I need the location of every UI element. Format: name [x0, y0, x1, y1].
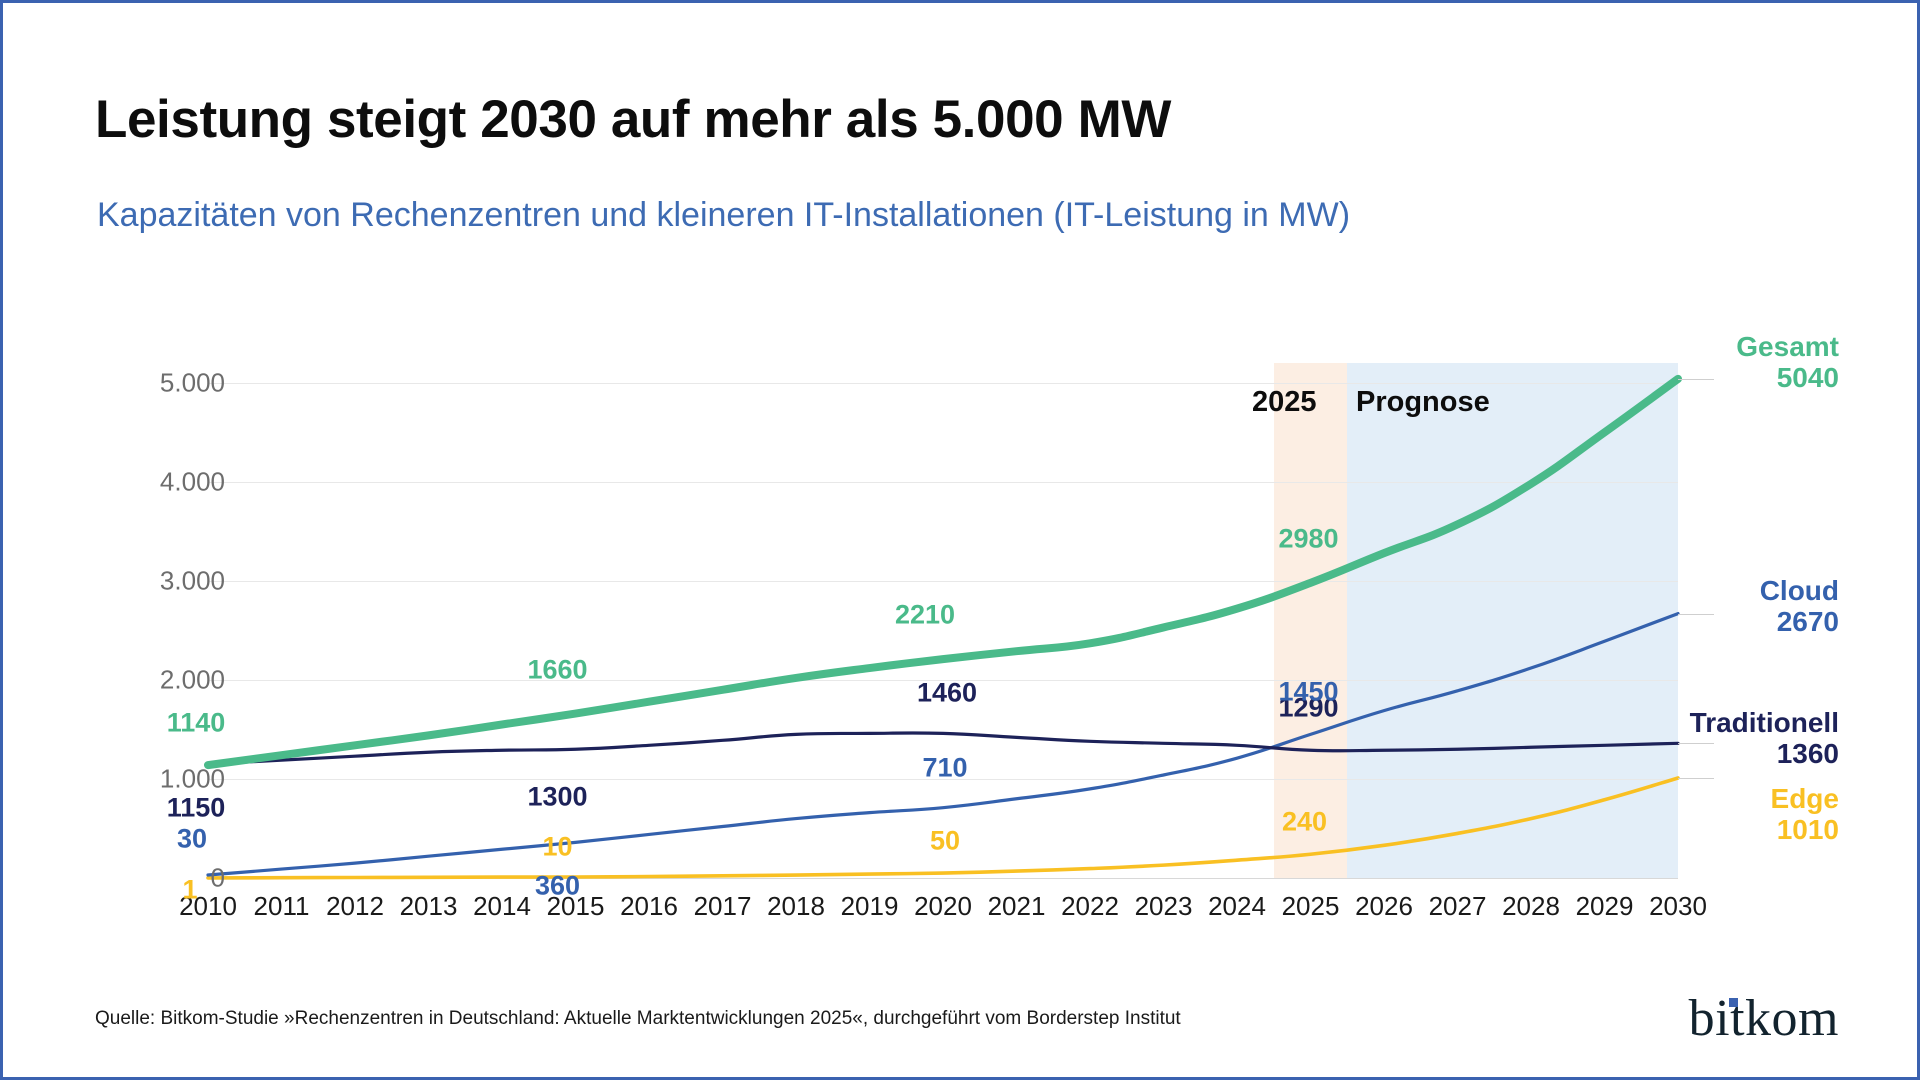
x-axis-tick: 2020 — [914, 891, 972, 922]
legend-item-name: Cloud — [1760, 575, 1839, 606]
point-label: 1140 — [167, 708, 226, 739]
y-axis-tick: 3.000 — [85, 565, 225, 596]
y-axis-tick: 2.000 — [85, 664, 225, 695]
x-axis-tick: 2025 — [1282, 891, 1340, 922]
y-axis-tick: 0 — [85, 863, 225, 894]
legend-item-edge[interactable]: Edge1010 — [1771, 783, 1839, 846]
x-axis-tick: 2026 — [1355, 891, 1413, 922]
band-label-prognose: Prognose — [1356, 386, 1490, 419]
x-axis-tick: 2030 — [1649, 891, 1707, 922]
point-label: 30 — [177, 824, 207, 855]
legend-item-name: Gesamt — [1736, 331, 1839, 362]
logo-text: bitkom — [1689, 990, 1839, 1047]
point-label: 1150 — [167, 793, 226, 824]
point-label: 1660 — [527, 654, 587, 685]
source-note: Quelle: Bitkom-Studie »Rechenzentren in … — [95, 1008, 1181, 1030]
x-axis-tick: 2017 — [694, 891, 752, 922]
x-axis-tick: 2028 — [1502, 891, 1560, 922]
legend-item-value: 5040 — [1736, 362, 1839, 393]
y-axis-tick: 5.000 — [85, 367, 225, 398]
band-label-2025: 2025 — [1252, 386, 1317, 419]
x-axis-tick: 2018 — [767, 891, 825, 922]
x-axis-tick: 2013 — [400, 891, 458, 922]
page-subtitle: Kapazitäten von Rechenzentren und kleine… — [97, 196, 1350, 235]
x-axis-tick: 2029 — [1576, 891, 1634, 922]
point-label: 2210 — [895, 600, 955, 631]
infographic-canvas: Leistung steigt 2030 auf mehr als 5.000 … — [0, 0, 1920, 1080]
legend-leader-line — [1678, 379, 1714, 380]
legend-leader-line — [1678, 614, 1714, 615]
x-axis-tick: 2011 — [254, 891, 310, 922]
point-label: 1 — [182, 874, 197, 905]
point-label: 1450 — [1278, 677, 1338, 708]
x-axis-tick: 2019 — [841, 891, 899, 922]
point-label: 710 — [922, 752, 967, 783]
legend-item-value: 1010 — [1771, 814, 1839, 845]
point-label: 10 — [542, 832, 572, 863]
point-label: 2980 — [1278, 523, 1338, 554]
x-axis-tick: 2021 — [988, 891, 1046, 922]
bitkom-logo: bitkom — [1689, 989, 1839, 1048]
point-label: 50 — [930, 826, 960, 857]
x-axis-tick: 2027 — [1429, 891, 1487, 922]
legend-item-value: 2670 — [1760, 606, 1839, 637]
x-axis-tick: 2024 — [1208, 891, 1266, 922]
point-label: 240 — [1282, 807, 1327, 838]
x-axis-tick: 2023 — [1135, 891, 1193, 922]
legend-item-value: 1360 — [1690, 738, 1839, 769]
legend-leader-line — [1678, 778, 1714, 779]
legend-item-name: Edge — [1771, 783, 1839, 814]
point-label: 360 — [535, 871, 580, 902]
x-axis-tick: 2012 — [326, 891, 384, 922]
y-axis-tick: 1.000 — [85, 763, 225, 794]
legend-item-name: Traditionell — [1690, 707, 1839, 738]
y-axis-tick: 4.000 — [85, 466, 225, 497]
legend-item-gesamt[interactable]: Gesamt5040 — [1736, 331, 1839, 394]
x-axis-tick: 2014 — [473, 891, 531, 922]
point-label: 1300 — [527, 782, 587, 813]
page-title: Leistung steigt 2030 auf mehr als 5.000 … — [95, 89, 1171, 150]
x-axis-tick: 2022 — [1061, 891, 1119, 922]
point-label: 1460 — [917, 678, 977, 709]
x-axis-tick: 2016 — [620, 891, 678, 922]
legend-item-traditionell[interactable]: Traditionell1360 — [1690, 707, 1839, 770]
legend-item-cloud[interactable]: Cloud2670 — [1760, 575, 1839, 638]
logo-dot — [1729, 998, 1738, 1007]
